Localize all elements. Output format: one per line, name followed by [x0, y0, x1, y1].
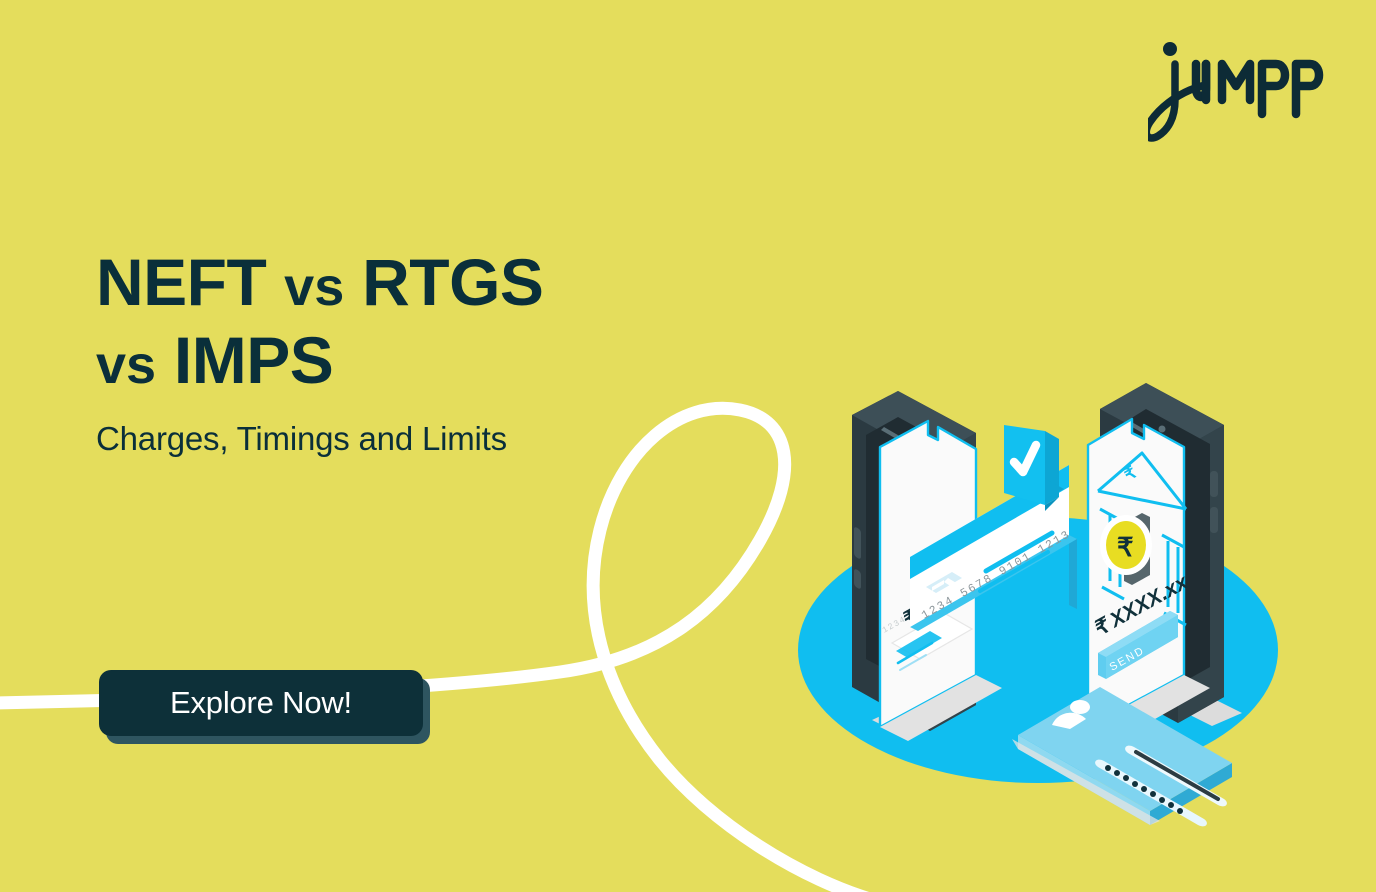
logo-dot-icon [1163, 42, 1177, 56]
headline-vs-1: vs [284, 257, 344, 317]
headline-neft: NEFT [96, 245, 266, 319]
page-title: NEFT vs RTGS vs IMPS [96, 244, 736, 400]
page-subtitle: Charges, Timings and Limits [96, 420, 507, 458]
headline-imps: IMPS [174, 323, 333, 397]
rupee-coin-icon: ₹ [1100, 515, 1152, 575]
explore-now-button[interactable]: Explore Now! [99, 670, 423, 736]
headline-line-2: vs IMPS [96, 322, 736, 400]
headline-rtgs: RTGS [362, 245, 543, 319]
headline-vs-2: vs [96, 335, 156, 395]
jumpp-logo[interactable] [1148, 38, 1328, 153]
payment-illustration: ₹XXXX.xx 1234 5678 9101 1213 1234 5678 9 [780, 375, 1300, 865]
headline-line-1: NEFT vs RTGS [96, 244, 736, 322]
svg-text:₹: ₹ [1117, 532, 1134, 562]
promo-banner: NEFT vs RTGS vs IMPS Charges, Timings an… [0, 0, 1376, 892]
front-camera-icon-2 [1159, 426, 1166, 433]
